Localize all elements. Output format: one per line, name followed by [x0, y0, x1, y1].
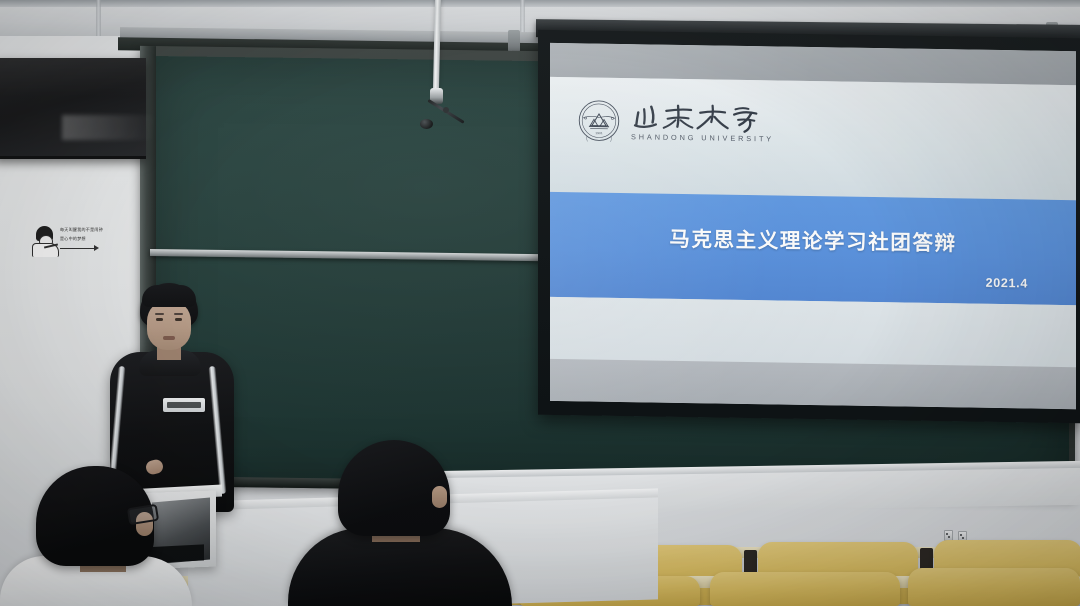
student-front-right-ear	[432, 486, 447, 508]
lecture-seat[interactable]	[710, 572, 900, 606]
poster-arrow-icon	[94, 245, 99, 251]
classroom-photo-scene: 每天叫醒我的不是闹钟 是心中的梦想	[0, 0, 1080, 606]
wall-seam	[96, 0, 101, 36]
wall-seam	[520, 0, 525, 36]
ceiling-shadow	[0, 0, 1080, 7]
presenter-face	[147, 300, 191, 350]
svg-text:1901: 1901	[595, 131, 603, 135]
monitor-glare	[62, 115, 153, 140]
microphone-pivot	[443, 107, 449, 113]
lecture-seat[interactable]	[908, 568, 1080, 606]
university-name-cn	[629, 101, 774, 133]
presenter-chest-logo-mark	[167, 402, 201, 408]
rail-bracket	[508, 30, 520, 52]
university-name-en: SHANDONG UNIVERSITY	[631, 132, 774, 143]
slide-date: 2021.4	[986, 276, 1028, 291]
university-logo: 1901	[578, 99, 774, 144]
presenter-bangs	[142, 285, 196, 307]
slide-canvas: 1901	[550, 43, 1076, 409]
projection-screen[interactable]: 1901	[538, 30, 1080, 424]
presenter-chest-logo	[163, 398, 205, 412]
wall-poster-sticker: 每天叫醒我的不是闹钟 是心中的梦想	[30, 218, 102, 262]
shandong-university-seal-icon: 1901	[578, 99, 620, 142]
monitor-glare-top	[0, 58, 146, 97]
poster-text-line2: 是心中的梦想	[60, 235, 100, 242]
wall-monitor-panel	[0, 58, 146, 159]
poster-text-line1: 每天叫醒我的不是闹钟	[60, 226, 100, 233]
slide-lower-area	[550, 297, 1076, 367]
slide-bottom-band	[550, 359, 1076, 409]
poster-underline	[60, 248, 96, 249]
presenter-mouth	[163, 336, 175, 340]
university-wordmark: SHANDONG UNIVERSITY	[629, 101, 774, 143]
poster-figure-icon	[32, 226, 58, 256]
microphone-icon	[420, 119, 433, 129]
